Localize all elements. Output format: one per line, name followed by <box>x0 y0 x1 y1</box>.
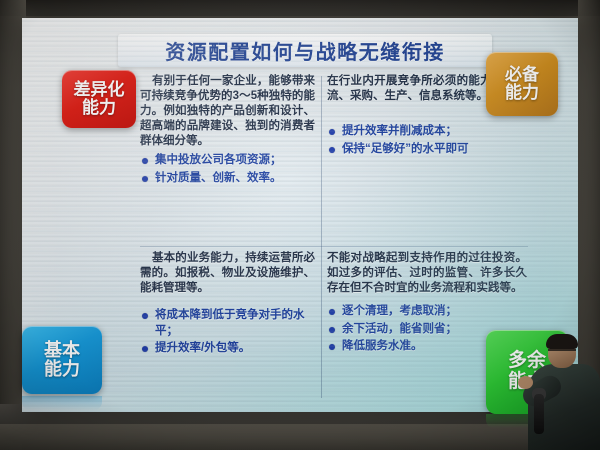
badge-line-1: 差异化 <box>74 81 125 99</box>
microphone-icon <box>534 394 544 434</box>
list-item: 逐个清理，考虑取消； <box>327 304 527 320</box>
badge-line-1: 必备 <box>505 66 539 84</box>
badge-line-1: 基本 <box>44 341 80 360</box>
column-divider <box>321 76 322 398</box>
left-top-bullet-list: 集中投放公司各项资源； 针对质量、创新、效率。 <box>140 153 315 186</box>
badge-basic-reflection <box>22 396 102 410</box>
list-item: 将成本降到低于竞争对手的水平； <box>140 308 315 339</box>
presenter-hair <box>546 334 578 349</box>
presentation-photo: 资源配置如何与战略无缝衔接 有别于任何一家企业，能够带来可持续竞争优势的3～5种… <box>0 0 600 450</box>
row-divider <box>140 246 528 247</box>
left-column: 有别于任何一家企业，能够带来可持续竞争优势的3～5种独特的能力。例如独特的产品创… <box>140 74 315 188</box>
badge-essential-capability: 必备 能力 <box>486 52 558 116</box>
list-item: 提升效率并削减成本； <box>327 124 527 140</box>
ceiling-shadow <box>0 0 600 16</box>
glasses-icon <box>548 349 576 357</box>
badge-line-2: 能力 <box>505 84 539 102</box>
left-bottom-bullet-list: 将成本降到低于竞争对手的水平； 提升效率/外包等。 <box>140 308 315 357</box>
presenter-hand <box>518 376 533 389</box>
left-bottom-paragraph: 基本的业务能力，持续运营所必需的。如报税、物业及设施维护、能耗管理等。 <box>140 251 315 296</box>
list-item: 集中投放公司各项资源； <box>140 153 315 169</box>
slide-title: 资源配置如何与战略无缝衔接 <box>118 34 492 67</box>
list-item: 保持“足够好”的水平即可 <box>327 142 527 158</box>
right-top-bullet-list: 提升效率并削减成本； 保持“足够好”的水平即可 <box>327 124 527 157</box>
badge-line-2: 能力 <box>82 99 116 117</box>
list-item: 提升效率/外包等。 <box>140 341 315 357</box>
badge-basic-capability: 基本 能力 <box>22 326 102 394</box>
left-column-lower: 基本的业务能力，持续运营所必需的。如报税、物业及设施维护、能耗管理等。 将成本降… <box>140 251 315 359</box>
badge-differentiating-capability: 差异化 能力 <box>62 70 136 128</box>
left-top-paragraph: 有别于任何一家企业，能够带来可持续竞争优势的3～5种独特的能力。例如独特的产品创… <box>140 74 315 149</box>
presenter-figure <box>520 332 600 450</box>
badge-line-2: 能力 <box>44 360 80 379</box>
list-item: 针对质量、创新、效率。 <box>140 171 315 187</box>
right-bottom-paragraph: 不能对战略起到支持作用的过往投资。如过多的评估、过时的监管、许多长久存在但不合时… <box>327 251 527 296</box>
